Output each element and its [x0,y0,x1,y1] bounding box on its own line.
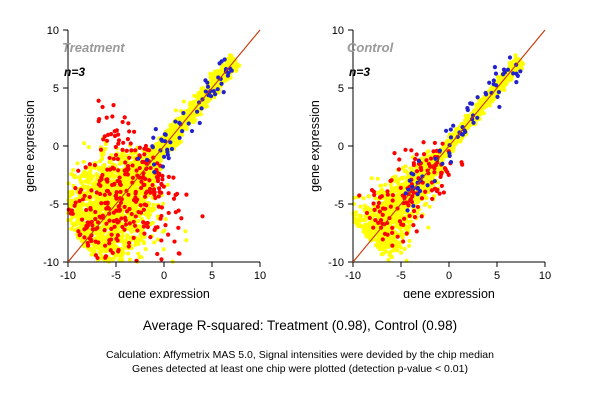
svg-text:gene expression: gene expression [23,100,37,192]
panel-n-treatment: n=3 [64,65,85,79]
caption-r-squared: Average R-squared: Treatment (0.98), Con… [0,318,600,333]
svg-text:0: 0 [161,270,167,282]
caption-detection: Genes detected at least one chip were pl… [0,363,600,375]
svg-text:5: 5 [53,83,59,95]
svg-text:5: 5 [209,270,215,282]
svg-text:-5: -5 [49,199,59,211]
svg-text:10: 10 [47,25,59,37]
svg-text:10: 10 [254,270,266,282]
svg-text:gene expression: gene expression [118,287,210,298]
figure-root: -10-50510-10-50510gene expressiongene ex… [0,0,600,400]
panel-n-control: n=3 [349,65,370,79]
panel-title-control: Control [347,40,393,55]
panel-title-treatment: Treatment [62,40,125,55]
scatter-plot-treatment: -10-50510-10-50510gene expressiongene ex… [20,18,270,298]
svg-text:-10: -10 [60,270,76,282]
scatter-plot-control: -10-50510-10-50510gene expressiongene ex… [305,18,555,298]
scatter-panel-control: -10-50510-10-50510gene expressiongene ex… [305,18,555,298]
svg-text:-5: -5 [111,270,121,282]
svg-text:0: 0 [53,141,59,153]
svg-text:-10: -10 [43,257,59,269]
plot-points-control [351,53,525,263]
caption-calculation: Calculation: Affymetrix MAS 5.0, Signal … [0,349,600,361]
scatter-panel-treatment: -10-50510-10-50510gene expressiongene ex… [20,18,270,298]
